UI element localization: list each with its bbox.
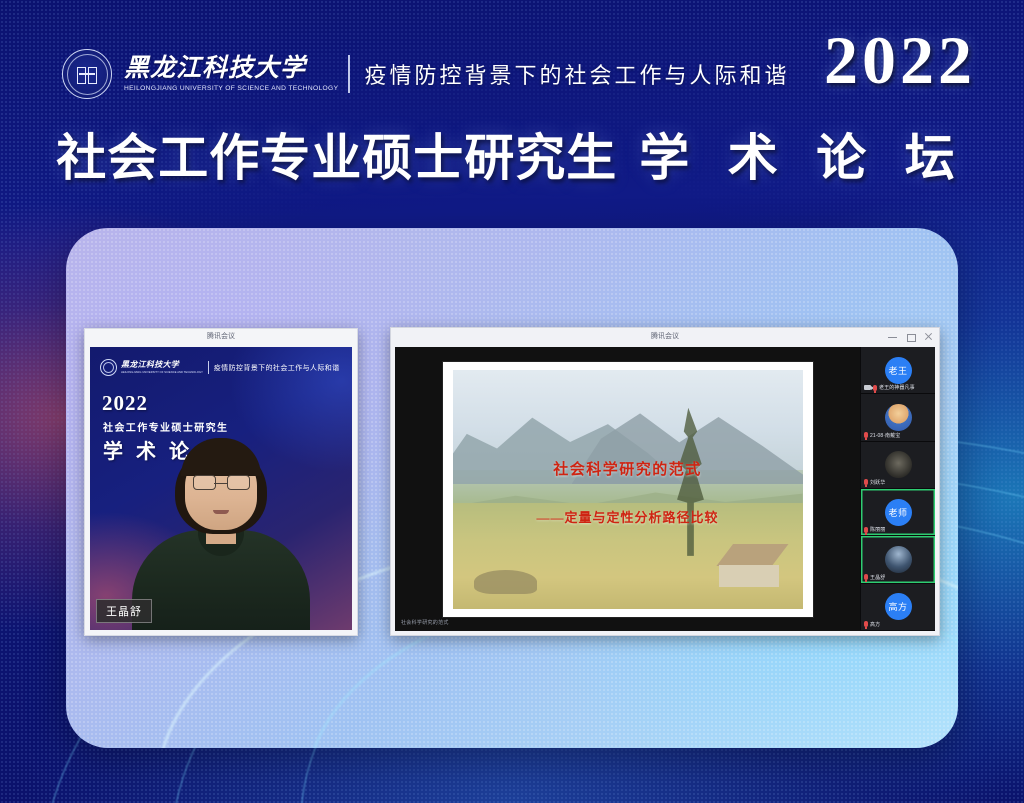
university-name-en: HEILONGJIANG UNIVERSITY OF SCIENCE AND T…: [124, 85, 338, 92]
slide-university-block: 黑龙江科技大学 HEILONGJIANG UNIVERSITY OF SCIEN…: [121, 361, 203, 374]
university-name-cn: 黑龙江科技大学: [124, 56, 334, 82]
participant-meta: 老王的神器凡事: [864, 384, 915, 391]
participant-rail[interactable]: 老王 老王的神器凡事 21-08·南戴宝: [860, 347, 935, 631]
page-title: 社会工作专业硕士研究生学 术 论 坛: [0, 118, 1024, 190]
participant-name: 陈丽丽: [870, 526, 885, 533]
avatar: 老王: [885, 357, 912, 384]
shared-slide: 社会科学研究的范式 ——定量与定性分析路径比较: [443, 362, 813, 617]
poster-year: 2022: [824, 26, 976, 94]
participant-meta: 高方: [864, 621, 880, 628]
camera-icon: [864, 385, 871, 390]
left-meeting-window[interactable]: 腾讯会议 黑龙江科技大学 HEILONGJIANG UNIVERSITY OF …: [84, 328, 358, 636]
left-window-title: 腾讯会议: [85, 329, 357, 345]
participant-tile[interactable]: 21-08·南戴宝: [861, 394, 935, 441]
eyeglasses-icon: [193, 475, 216, 490]
slide-background-painting: [453, 370, 803, 609]
avatar: [885, 451, 912, 478]
slide-brand-row: 黑龙江科技大学 HEILONGJIANG UNIVERSITY OF SCIEN…: [100, 359, 340, 376]
slide-subtitle: ——定量与定性分析路径比较: [443, 507, 813, 526]
microphone-muted-icon: [864, 527, 868, 533]
participant-name: 高方: [870, 621, 880, 628]
microphone-muted-icon: [864, 574, 868, 580]
page-title-main: 社会工作专业硕士研究生: [56, 130, 617, 186]
brand-divider: [348, 55, 349, 93]
right-window-title: 腾讯会议: [391, 328, 939, 345]
participant-name: 王晶舒: [870, 574, 885, 581]
participant-name: 刘跃华: [870, 479, 885, 486]
microphone-muted-icon: [864, 432, 868, 438]
poster-canvas: 黑龙江科技大学 HEILONGJIANG UNIVERSITY OF SCIEN…: [0, 0, 1024, 803]
participant-name: 21-08·南戴宝: [870, 432, 900, 439]
right-window-titlebar[interactable]: 腾讯会议: [391, 328, 939, 345]
forum-theme: 疫情防控背景下的社会工作与人际和谐: [365, 58, 790, 90]
brand-row: 黑龙江科技大学 HEILONGJIANG UNIVERSITY OF SCIEN…: [62, 44, 790, 104]
university-name-block: 黑龙江科技大学 HEILONGJIANG UNIVERSITY OF SCIEN…: [124, 56, 334, 92]
close-icon[interactable]: [924, 332, 933, 341]
left-video-feed[interactable]: 黑龙江科技大学 HEILONGJIANG UNIVERSITY OF SCIEN…: [90, 347, 352, 630]
participant-tile[interactable]: 老王 老王的神器凡事: [861, 347, 935, 394]
microphone-muted-icon: [873, 385, 877, 391]
window-controls[interactable]: [888, 328, 933, 345]
participant-meta: 21-08·南戴宝: [864, 432, 900, 439]
share-footer-note: 社会科学研究的范式: [401, 619, 449, 626]
slide-year: 2022: [102, 393, 148, 414]
restore-icon[interactable]: [906, 332, 915, 341]
poster-header: 黑龙江科技大学 HEILONGJIANG UNIVERSITY OF SCIEN…: [0, 0, 1024, 212]
slide-theme: 疫情防控背景下的社会工作与人际和谐: [214, 363, 340, 373]
university-seal-icon: [100, 359, 117, 376]
avatar: [885, 404, 912, 431]
minimize-icon[interactable]: [888, 332, 897, 341]
slide-title: 社会科学研究的范式: [443, 458, 813, 479]
participant-name: 老王的神器凡事: [879, 384, 915, 391]
speaker-name-label: 王晶舒: [96, 599, 152, 623]
slide-university-cn: 黑龙江科技大学: [121, 361, 203, 369]
slide-brand-divider: [208, 361, 209, 374]
participant-meta: 刘跃华: [864, 479, 885, 486]
meeting-stage: 正在讲话: 王晶舒 社会科学研究的范式 ——定量: [395, 347, 935, 631]
microphone-muted-icon: [864, 479, 868, 485]
right-meeting-window[interactable]: 腾讯会议 正在讲话: 王晶舒: [390, 327, 940, 636]
eyeglasses-icon: [227, 475, 250, 490]
page-title-spaced: 学 术 论 坛: [639, 130, 968, 186]
participant-tile[interactable]: 王晶舒: [861, 536, 935, 583]
screen-share-area[interactable]: 正在讲话: 王晶舒 社会科学研究的范式 ——定量: [395, 347, 860, 631]
participant-meta: 王晶舒: [864, 574, 885, 581]
slide-title-main: 社会工作专业硕士研究生: [103, 419, 228, 434]
avatar: [885, 546, 912, 573]
avatar: 高方: [885, 593, 912, 620]
participant-tile[interactable]: 刘跃华: [861, 442, 935, 489]
participant-tile[interactable]: 高方 高方: [861, 584, 935, 631]
microphone-muted-icon: [864, 621, 868, 627]
slide-university-en: HEILONGJIANG UNIVERSITY OF SCIENCE AND T…: [121, 371, 203, 374]
avatar: 老师: [885, 499, 912, 526]
university-seal-icon: [62, 49, 112, 99]
participant-meta: 陈丽丽: [864, 526, 885, 533]
participant-tile[interactable]: 老师 陈丽丽: [861, 489, 935, 536]
